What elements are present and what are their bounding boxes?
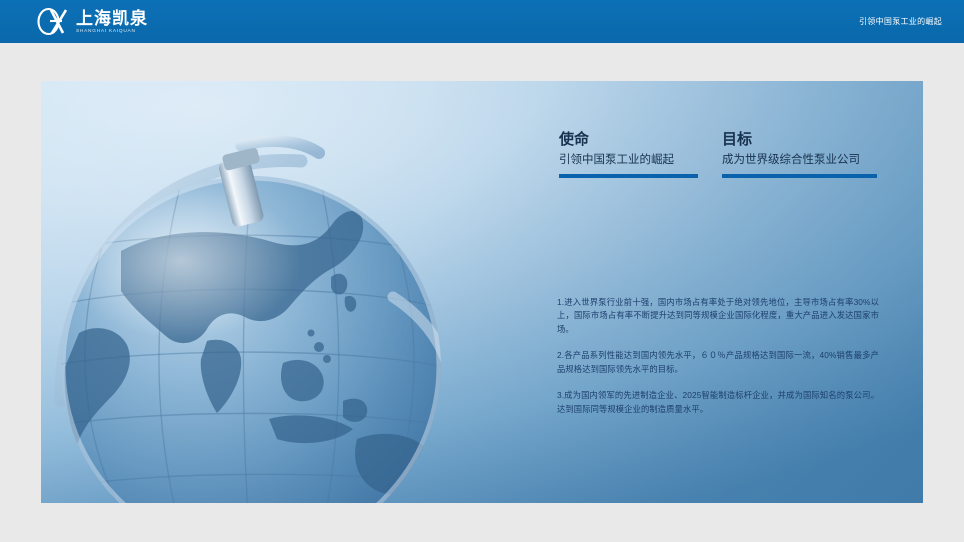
mission-subtitle: 引领中国泵工业的崛起 bbox=[559, 153, 714, 169]
mission-title: 使命 bbox=[559, 131, 714, 150]
mission-underline bbox=[559, 174, 698, 178]
brand-name-cn: 上海凯泉 bbox=[76, 10, 148, 27]
brand-logo[interactable]: 上海凯泉 SHANGHAI KAIQUAN bbox=[36, 7, 148, 37]
kaiquan-logo-icon bbox=[36, 7, 70, 37]
slide-content: 使命 引领中国泵工业的崛起 目标 成为世界级综合性泵业公司 1.进入世界泵行业前… bbox=[519, 131, 889, 471]
globe-illustration bbox=[41, 101, 561, 503]
header-slogan: 引领中国泵工业的崛起 bbox=[859, 0, 942, 43]
goal-subtitle: 成为世界级综合性泵业公司 bbox=[722, 153, 877, 169]
slide-canvas: 使命 引领中国泵工业的崛起 目标 成为世界级综合性泵业公司 1.进入世界泵行业前… bbox=[41, 81, 923, 503]
goal-title: 目标 bbox=[722, 131, 877, 150]
heading-block-goal: 目标 成为世界级综合性泵业公司 bbox=[722, 131, 877, 178]
headings-row: 使命 引领中国泵工业的崛起 目标 成为世界级综合性泵业公司 bbox=[559, 131, 889, 178]
goal-underline bbox=[722, 174, 877, 178]
paragraph-item: 2.各产品系列性能达到国内领先水平，６０％产品规格达到国际一流，40%销售最多产… bbox=[557, 349, 879, 376]
app-header-bar: 上海凯泉 SHANGHAI KAIQUAN 引领中国泵工业的崛起 bbox=[0, 0, 964, 43]
paragraph-list: 1.进入世界泵行业前十强，国内市场占有率处于绝对领先地位，主导市场占有率30%以… bbox=[557, 296, 879, 416]
brand-name-en: SHANGHAI KAIQUAN bbox=[76, 29, 144, 34]
paragraph-item: 1.进入世界泵行业前十强，国内市场占有率处于绝对领先地位，主导市场占有率30%以… bbox=[557, 296, 879, 336]
globe-graphic-icon bbox=[41, 101, 561, 503]
paragraph-item: 3.成为国内领军的先进制造企业、2025智能制造标杆企业，并成为国际知名的泵公司… bbox=[557, 389, 879, 416]
heading-block-mission: 使命 引领中国泵工业的崛起 bbox=[559, 131, 714, 178]
